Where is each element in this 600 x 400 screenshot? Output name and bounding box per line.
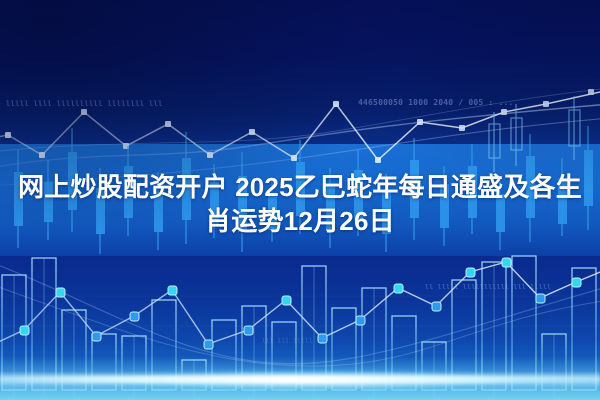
upper-smooth-curve [0,88,600,186]
poster-title: 网上炒股配资开户 2025乙巳蛇年每日通盛及各生 肖运势12月26日 [0,170,600,238]
background-band-top [0,0,600,144]
lower-marker-line [0,258,600,349]
lower-bar-stems [14,258,554,396]
lower-chart-graphics [0,0,600,400]
title-line-1: 网上炒股配资开户 2025乙巳蛇年每日通盛及各生 [0,170,600,204]
background-band-bottom [0,256,600,400]
upper-chart-graphics [0,0,600,400]
title-line-2: 肖运势12月26日 [0,204,600,238]
decorative-text-right: 446500050 1000 2040 / 005 : ... [358,98,514,107]
vignette-overlay [0,0,600,400]
decorative-text-lower-alt: lll lll lllll ll [262,338,325,345]
upper-zigzag-line [0,89,600,163]
bottom-glow-band [0,356,600,400]
hollow-candle-group [489,96,580,172]
decorative-text-lower: ll lllll lllllllllll lll lllll [425,283,551,291]
upper-line-markers [5,89,594,163]
lower-line-markers [20,258,581,349]
lower-smooth-curves [0,262,600,366]
candlestick-group [14,126,593,254]
lower-bar-group [2,256,596,390]
decorative-text-left: lllll llll llllllllll llllllll lll [6,100,163,108]
background-band-middle [0,144,600,256]
lower-gridlines [0,296,600,352]
bottom-glow-core [0,376,600,383]
candlestick-chart [0,0,600,400]
poster-canvas: lllll llll llllllllll llllllll lll 44650… [0,0,600,400]
